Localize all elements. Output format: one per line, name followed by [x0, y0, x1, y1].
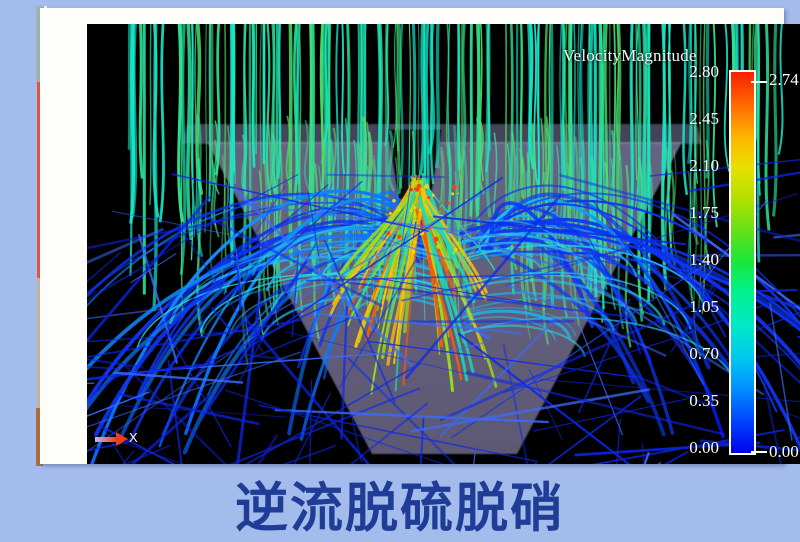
figure-caption: 逆流脱硫脱硝	[0, 466, 800, 542]
x-axis-arrow-icon	[95, 437, 117, 442]
streamline-visualization	[87, 24, 800, 464]
cfd-render-viewport[interactable]: VelocityMagnitude 2.74 0.00 2.80 2.45 2.…	[87, 24, 800, 464]
background-window-strips	[0, 0, 44, 470]
x-axis-arrowhead-icon	[116, 432, 128, 446]
image-frame: VelocityMagnitude 2.74 0.00 2.80 2.45 2.…	[40, 8, 784, 464]
x-axis-label: X	[129, 430, 138, 445]
orientation-axis-widget[interactable]: X	[95, 428, 145, 452]
